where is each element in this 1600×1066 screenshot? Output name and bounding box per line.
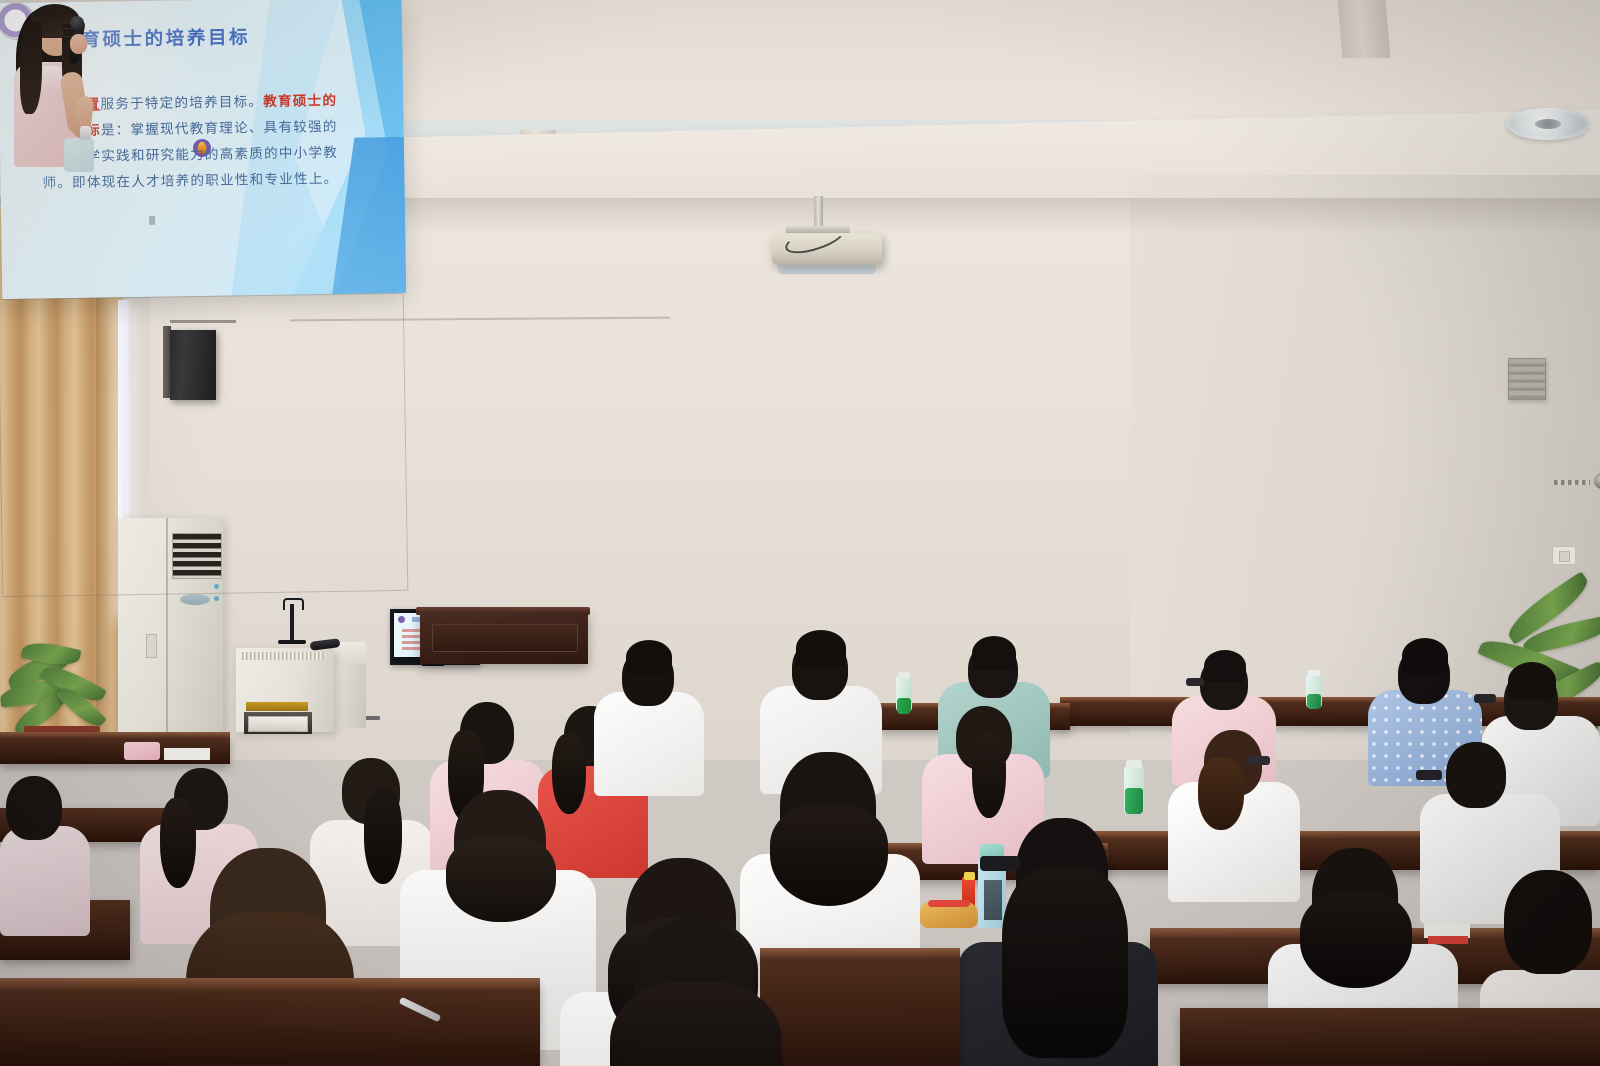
notebook-edge xyxy=(1428,936,1468,944)
microphone-stand-base xyxy=(278,640,306,644)
person-ponytail xyxy=(160,798,196,888)
presenter-hand xyxy=(70,34,87,54)
person-hair xyxy=(1402,638,1448,674)
person-hair xyxy=(972,636,1016,670)
person-hair xyxy=(626,640,672,674)
microphone-clip-icon xyxy=(283,598,304,610)
slide-body-seg-1: 服务于特定的培养目标。 xyxy=(100,94,263,112)
notebook[interactable] xyxy=(164,748,210,760)
mouse-cursor-icon xyxy=(149,216,155,225)
tissue-box[interactable] xyxy=(124,742,160,760)
person-ponytail xyxy=(1198,758,1244,830)
monitor-text-line xyxy=(402,647,422,650)
person-hair xyxy=(446,836,556,922)
projector-buttons xyxy=(1554,480,1590,485)
wall-vent xyxy=(1508,358,1546,400)
bench-back xyxy=(0,982,540,1066)
glasses-icon xyxy=(1186,678,1204,686)
tube-cap xyxy=(964,872,975,880)
person-head xyxy=(1504,870,1592,974)
presenter-hair-left xyxy=(20,22,42,114)
snack-filling xyxy=(928,900,970,907)
cabinet-side xyxy=(330,664,366,728)
ac-indicator-icon xyxy=(214,584,219,589)
bench-back xyxy=(760,950,960,1066)
glasses-icon xyxy=(980,856,1020,871)
bottle-label xyxy=(897,698,911,714)
person-hair xyxy=(1002,868,1128,1058)
bottle-cap xyxy=(1126,760,1142,768)
person-ponytail xyxy=(972,732,1006,818)
person-top xyxy=(594,692,704,796)
glasses-icon xyxy=(1416,770,1442,780)
glasses-icon xyxy=(1248,756,1270,765)
person-hair xyxy=(770,804,888,906)
person-ponytail xyxy=(364,788,402,884)
person-hair xyxy=(1204,650,1246,682)
ac-grille xyxy=(172,533,222,579)
cabinet-device xyxy=(248,716,308,732)
person-hair xyxy=(796,630,846,666)
monitor-seal-icon xyxy=(398,616,405,623)
bench-desk-edge xyxy=(0,732,230,738)
bottle-cap xyxy=(898,672,910,679)
bench-back-edge xyxy=(0,978,540,990)
bottle-label xyxy=(1307,694,1321,709)
cabinet-strip xyxy=(246,702,308,711)
cabinet-vent xyxy=(242,652,324,660)
hvac-diffuser-icon xyxy=(1506,108,1590,140)
presentation-clicker[interactable] xyxy=(80,126,91,140)
lectern-panel xyxy=(432,624,578,652)
bottle-cap xyxy=(1308,670,1320,676)
left-potted-plant xyxy=(0,640,190,790)
person-hair xyxy=(1300,892,1412,988)
bench-back xyxy=(1180,1008,1600,1066)
bottle-label xyxy=(984,880,1002,920)
person-hair xyxy=(1508,662,1556,700)
person-ponytail xyxy=(552,734,586,814)
glasses-icon xyxy=(1474,694,1496,703)
person-head xyxy=(1446,742,1506,808)
bottle-label xyxy=(1125,788,1143,814)
ac-indicator-icon xyxy=(214,596,219,601)
person-top xyxy=(0,826,90,936)
slide-title: 教育硕士的培养目标 xyxy=(60,22,360,53)
lecture-hall-photo: 教育硕士的培养目标 课程设置服务于特定的培养目标。教育硕士的培养目标是：掌握现代… xyxy=(0,0,1600,1066)
wall-speaker xyxy=(170,330,216,400)
ac-logo xyxy=(180,594,210,605)
person-head xyxy=(6,776,62,840)
light-switch[interactable] xyxy=(1552,546,1576,565)
ceiling-beam xyxy=(1337,0,1390,58)
person-hair xyxy=(610,982,782,1066)
speaker-bracket-arm xyxy=(170,320,236,323)
bench-back-edge xyxy=(760,948,960,958)
presenter-skirt xyxy=(64,138,94,172)
